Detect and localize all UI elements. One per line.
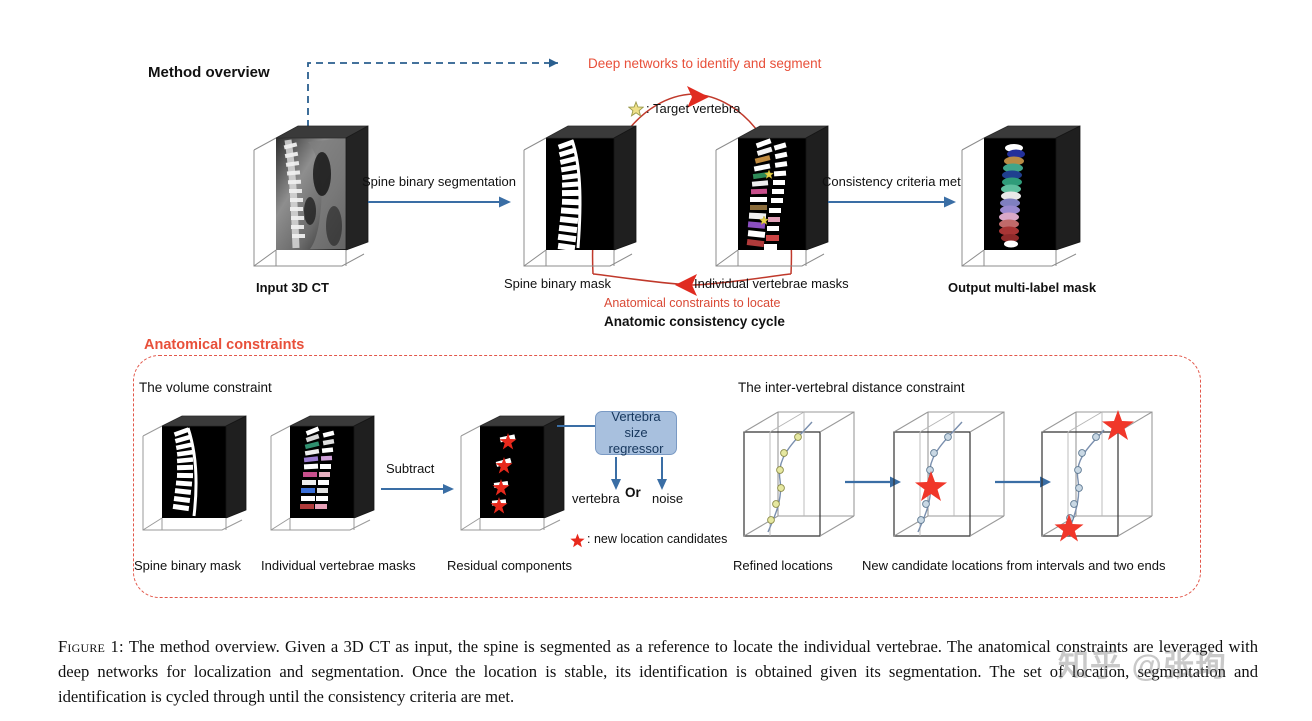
- method-overview-title: Method overview: [148, 64, 270, 81]
- anatomic-consistency-cycle-label: Anatomic consistency cycle: [604, 314, 785, 329]
- figure-caption-text: The method overview. Given a 3D CT as in…: [58, 637, 1258, 706]
- spine-binary-segmentation-label: Spine binary segmentation: [362, 174, 516, 189]
- spine-binary-segmentation-arrow: [368, 195, 513, 209]
- deep-networks-label: Deep networks to identify and segment: [588, 56, 821, 71]
- figure-caption: Figure 1: The method overview. Given a 3…: [58, 634, 1258, 709]
- figure-caption-label: Figure 1:: [58, 637, 124, 656]
- refined-locations-label: Refined locations: [733, 558, 833, 573]
- anatomical-constraints-to-locate-label: Anatomical constraints to locate: [604, 296, 780, 310]
- regressor-line-1: Vertebra size: [611, 409, 660, 440]
- candidate-locations-ends-box: [1038, 408, 1156, 553]
- anatomical-constraints-title: Anatomical constraints: [140, 337, 308, 353]
- target-vertebra-legend-label: : Target vertebra: [646, 101, 740, 116]
- target-vertebra-star-icon: [628, 101, 644, 117]
- individual-vertebrae-masks-label: Individual vertebrae masks: [694, 276, 849, 291]
- new-location-candidates-star-icon: [570, 533, 585, 548]
- vc-individual-vertebrae-masks-label: Individual vertebrae masks: [261, 558, 416, 573]
- spine-binary-mask-label: Spine binary mask: [504, 276, 611, 291]
- residual-components-box: [458, 408, 560, 538]
- input-3d-ct-label: Input 3D CT: [256, 280, 329, 295]
- regressor-vertebra-arrow: [608, 457, 624, 491]
- vc-spine-binary-mask-label: Spine binary mask: [134, 558, 241, 573]
- vertebra-size-regressor-box[interactable]: Vertebra size regressor: [595, 411, 677, 455]
- subtract-label: Subtract: [386, 461, 434, 476]
- distance-constraint-title: The inter-vertebral distance constraint: [738, 380, 965, 395]
- vertebra-output-label: vertebra: [572, 491, 620, 506]
- individual-vertebrae-masks-box: [712, 116, 824, 278]
- new-location-candidates-legend-row: : new location candidates: [570, 532, 585, 550]
- new-candidate-locations-label: New candidate locations from intervals a…: [862, 558, 1166, 573]
- subtract-arrow: [381, 482, 456, 496]
- regressor-line-2: regressor: [609, 441, 664, 456]
- vc-individual-vertebrae-masks-box: [268, 408, 370, 538]
- noise-output-label: noise: [652, 491, 683, 506]
- or-label: Or: [625, 485, 641, 500]
- residual-components-label: Residual components: [447, 558, 572, 573]
- refined-locations-box: [740, 408, 858, 553]
- regressor-noise-arrow: [654, 457, 670, 491]
- output-multilabel-mask-box: [958, 116, 1076, 278]
- consistency-criteria-label: Consistency criteria met: [822, 174, 961, 189]
- input-3d-ct-box: [250, 116, 365, 278]
- figure-container: Method overview Deep networks to identif…: [0, 0, 1312, 721]
- spine-binary-mask-box: [520, 116, 632, 278]
- volume-constraint-title: The volume constraint: [139, 380, 272, 395]
- consistency-criteria-arrow: [828, 195, 958, 209]
- new-location-candidates-legend-label: : new location candidates: [587, 532, 727, 546]
- output-multilabel-mask-label: Output multi-label mask: [948, 280, 1096, 295]
- candidate-locations-mid-box: [890, 408, 1008, 553]
- vc-spine-binary-mask-box: [140, 408, 242, 538]
